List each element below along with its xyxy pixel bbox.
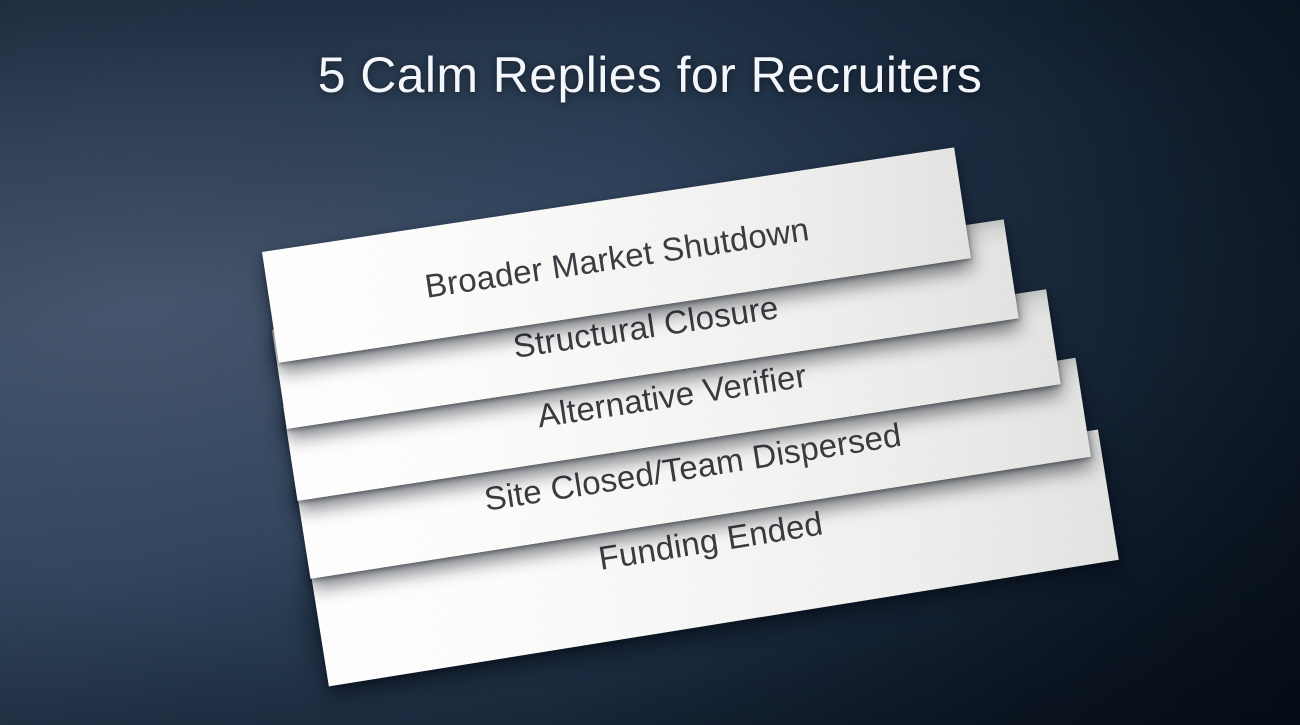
slide-canvas: 5 Calm Replies for Recruiters Funding En… (0, 0, 1300, 725)
page-title: 5 Calm Replies for Recruiters (0, 46, 1300, 104)
